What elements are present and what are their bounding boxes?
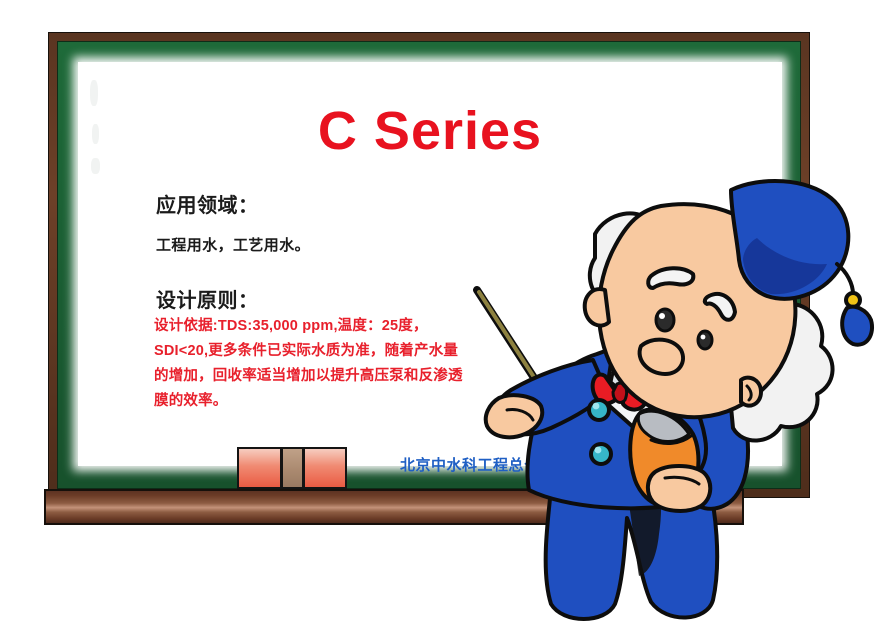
slide-canvas: C Series 应用领域： 工程用水，工艺用水。 设计原则： 设计依据:TDS… [0, 0, 877, 625]
jacket-button-bottom [591, 444, 611, 464]
design-heading: 设计原则： [156, 284, 259, 313]
chalk-smudge [90, 80, 98, 106]
ear-left [585, 289, 609, 325]
professor-mascot [455, 172, 877, 625]
eraser-red-left [237, 447, 281, 489]
eraser-group [237, 447, 347, 489]
application-body: 工程用水，工艺用水。 [156, 234, 310, 255]
slide-title: C Series [78, 104, 782, 158]
eraser-red-right [303, 447, 347, 489]
eyebrow-left [648, 268, 693, 288]
eye-left [656, 309, 674, 331]
application-heading: 应用领域： [156, 189, 259, 218]
chalk-smudge [91, 158, 100, 174]
eraser-tan-middle [281, 447, 303, 489]
tassel [842, 307, 872, 345]
nose [640, 340, 683, 374]
eye-right [698, 331, 712, 349]
right-hand [648, 466, 710, 511]
jacket-button-top [589, 400, 609, 420]
tassel-cord [837, 264, 853, 294]
left-hand [486, 395, 542, 437]
